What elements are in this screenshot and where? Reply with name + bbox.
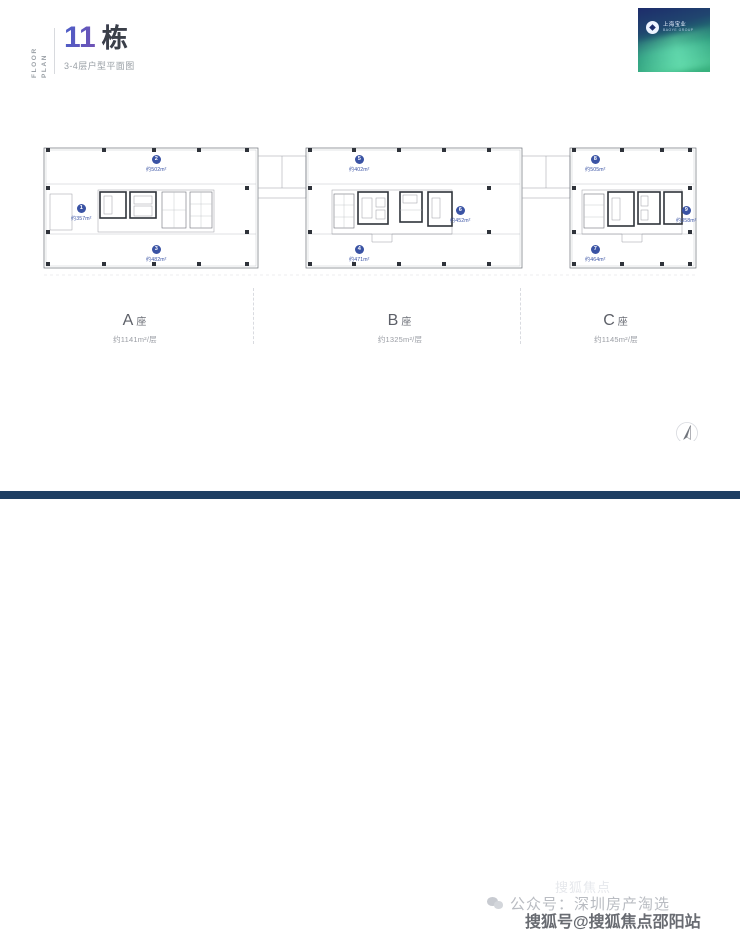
unit-marker-6-number: 6: [456, 206, 465, 215]
tower-a-area: 约1141m²/层: [65, 334, 205, 345]
separator-b-c: [520, 288, 521, 344]
unit-marker-8-area: 约505m²: [585, 166, 606, 173]
unit-marker-5[interactable]: 5 约402m²: [349, 155, 370, 173]
unit-marker-3-number: 3: [152, 245, 161, 254]
tower-caption-a: A座 约1141m²/层: [65, 312, 205, 345]
page-footer: 搜狐焦点 公众号：深圳房产淘选 搜狐号@搜狐焦点邵阳站: [0, 441, 740, 499]
tower-c-suffix: 座: [618, 317, 629, 328]
footer-color-bar: [0, 491, 740, 499]
unit-marker-8-number: 8: [591, 155, 600, 164]
floor-plan-page: FLOOR PLAN 11栋 3-4层户型平面图 上海宝业 BAOYE GROU…: [0, 0, 740, 499]
tower-c-name: C座: [546, 312, 686, 330]
unit-marker-5-number: 5: [355, 155, 364, 164]
wechat-icon: [487, 897, 504, 911]
page-header: FLOOR PLAN 11栋 3-4层户型平面图: [30, 22, 135, 78]
unit-marker-5-area: 约402m²: [349, 166, 370, 173]
unit-marker-3[interactable]: 3 约482m²: [146, 245, 167, 263]
unit-marker-7[interactable]: 7 约464m²: [585, 245, 606, 263]
unit-marker-9-number: 9: [682, 206, 691, 215]
unit-marker-4-number: 4: [355, 245, 364, 254]
shield-badge-icon: [646, 21, 659, 34]
logo-wordmark: 上海宝业 BAOYE GROUP: [663, 22, 694, 33]
logo-name-en: BAOYE GROUP: [663, 28, 694, 33]
building-number: 11: [64, 21, 96, 54]
tower-caption-c: C座 约1145m²/层: [546, 312, 686, 345]
sohu-watermark: 搜狐号@搜狐焦点邵阳站: [525, 908, 701, 932]
unit-marker-6-area: 约452m²: [450, 217, 471, 224]
unit-marker-2[interactable]: 2 约502m²: [146, 155, 167, 173]
header-text-block: 11栋 3-4层户型平面图: [64, 22, 135, 72]
unit-marker-1[interactable]: 1 约357m²: [71, 204, 92, 222]
link-b-c: [522, 156, 570, 198]
unit-marker-1-number: 1: [77, 204, 86, 213]
tower-c-area: 约1145m²/层: [546, 334, 686, 345]
tower-c-letter: C: [603, 312, 616, 329]
page-title: 11栋: [64, 22, 135, 54]
unit-marker-1-area: 约357m²: [71, 215, 92, 222]
tower-a-letter: A: [123, 312, 135, 329]
unit-marker-2-area: 约502m²: [146, 166, 167, 173]
unit-marker-7-number: 7: [591, 245, 600, 254]
tower-b-suffix: 座: [401, 317, 412, 328]
tower-a-core: [98, 190, 214, 232]
tower-b-name: B座: [330, 312, 470, 330]
building-unit-word: 栋: [102, 23, 128, 53]
header-divider: [54, 28, 55, 74]
unit-marker-9[interactable]: 9 约358m²: [676, 206, 697, 224]
floor-plan-vertical-label: FLOOR PLAN: [30, 26, 50, 78]
unit-marker-6[interactable]: 6 约452m²: [450, 206, 471, 224]
unit-marker-2-number: 2: [152, 155, 161, 164]
unit-marker-7-area: 约464m²: [585, 256, 606, 263]
tower-a-suffix: 座: [136, 317, 147, 328]
link-a-b: [258, 156, 306, 198]
tower-b-area: 约1325m²/层: [330, 334, 470, 345]
logo-mark: 上海宝业 BAOYE GROUP: [646, 21, 694, 34]
tower-caption-b: B座 约1325m²/层: [330, 312, 470, 345]
unit-marker-4-area: 约471m²: [349, 256, 370, 263]
page-subtitle: 3-4层户型平面图: [64, 59, 135, 72]
unit-marker-9-area: 约358m²: [676, 217, 697, 224]
tower-a-name: A座: [65, 312, 205, 330]
separator-a-b: [253, 288, 254, 344]
brand-logo: 上海宝业 BAOYE GROUP: [638, 8, 710, 72]
tower-b-core: [332, 190, 452, 242]
tower-c-core: [582, 190, 682, 242]
unit-marker-4[interactable]: 4 约471m²: [349, 245, 370, 263]
unit-marker-3-area: 约482m²: [146, 256, 167, 263]
unit-marker-8[interactable]: 8 约505m²: [585, 155, 606, 173]
tower-b-letter: B: [388, 312, 400, 329]
